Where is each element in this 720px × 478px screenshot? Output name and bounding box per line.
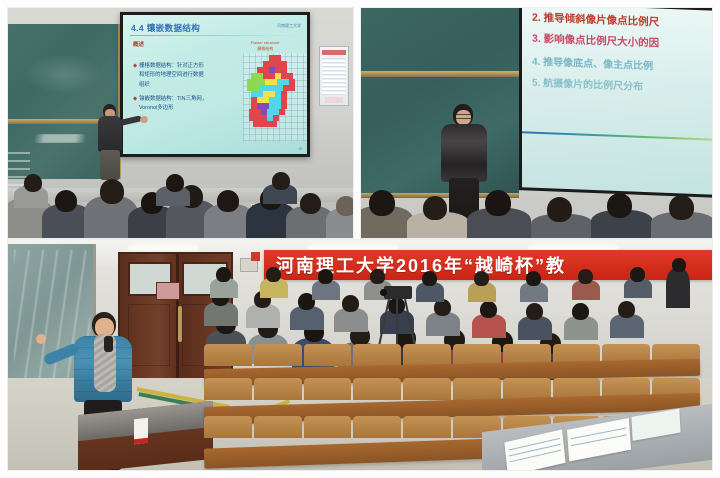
notice-body — [322, 58, 346, 95]
slide-line-3: 3. 影响像点比例尺大小的因 — [532, 31, 659, 51]
projection-screen-frame: 4.4 镶嵌数据结构 河南理工大学 概述 ◆栅格数据结构：针对正方形 和矩形的地… — [120, 12, 310, 157]
presenter-hand — [36, 334, 46, 344]
slide-color-divider — [522, 131, 712, 140]
paper-sheet — [504, 429, 565, 470]
seat — [403, 378, 451, 400]
chalk-smudge — [24, 54, 102, 94]
projection-screen-frame: 2. 推导倾斜像片像点比例尺 3. 影响像点比例尺大小的因 4. 推导像底点、像… — [519, 8, 712, 198]
tripod-leg-left — [377, 299, 390, 350]
projected-slide: 2. 推导倾斜像片像点比例尺 3. 影响像点比例尺大小的因 4. 推导像底点、像… — [522, 8, 712, 195]
seat — [304, 344, 352, 366]
seat — [403, 416, 451, 438]
raster-map-figure — [243, 53, 307, 141]
chalk-box — [134, 418, 148, 444]
bullet-marker-icon: ◆ — [133, 96, 137, 102]
seat — [353, 416, 401, 438]
seat — [204, 378, 252, 400]
audience-row — [361, 180, 712, 238]
bullet1-line2: 和矩形的地理空间进行数据 — [133, 71, 238, 80]
chalk-writing — [33, 134, 87, 143]
seat — [304, 378, 352, 400]
male-presenter — [94, 104, 126, 178]
photo-classroom-wide: 河南理工大学2016年“越崎杯”教 — [8, 240, 712, 470]
raster-label-cn: 栅格结构 — [251, 46, 279, 52]
photo2-scene: 2. 推导倾斜像片像点比例尺 3. 影响像点比例尺大小的因 4. 推导像底点、像… — [361, 8, 712, 238]
wall-notice-board — [319, 46, 349, 106]
photo-collage: 4.4 镶嵌数据结构 河南理工大学 概述 ◆栅格数据结构：针对正方形 和矩形的地… — [0, 0, 720, 478]
bullet1-line3: 组织 — [133, 81, 238, 90]
paper-sheet — [567, 418, 631, 462]
eyeglasses-icon — [456, 114, 471, 119]
seat — [353, 378, 401, 400]
seat — [353, 344, 401, 366]
bullet2-line1: 镶嵌数据结构：TIN三角网， — [139, 96, 207, 102]
seat — [204, 344, 252, 366]
raster-figure-labels: Raster structure 栅格结构 — [251, 40, 279, 52]
university-logo-text: 河南理工大学 — [277, 23, 301, 29]
photo-lecture-female: 2. 推导倾斜像片像点比例尺 3. 影响像点比例尺大小的因 4. 推导像底点、像… — [361, 8, 712, 238]
paper-sheet — [631, 409, 680, 441]
photo1-scene: 4.4 镶嵌数据结构 河南理工大学 概述 ◆栅格数据结构：针对正方形 和矩形的地… — [8, 8, 353, 238]
seat — [304, 416, 352, 438]
door-handle — [178, 306, 182, 342]
camera-lens-icon — [380, 289, 387, 296]
door-notice — [156, 282, 180, 300]
bullet2-line2: Voronoi多边形 — [133, 104, 238, 113]
camera-body — [384, 286, 412, 299]
slide-page-number: 10 — [298, 147, 302, 151]
slide-title: 4.4 镶嵌数据结构 — [131, 22, 200, 34]
photo-lecture-male: 4.4 镶嵌数据结构 河南理工大学 概述 ◆栅格数据结构：针对正方形 和矩形的地… — [8, 8, 353, 238]
notice-footer — [325, 97, 343, 103]
slide-bullet-2: ◆镶嵌数据结构：TIN三角网， Voronoi多边形 — [133, 95, 238, 114]
bullet1-line1: 栅格数据结构：针对正方形 — [139, 63, 204, 69]
seat — [254, 378, 302, 400]
presenter-leather-jacket — [441, 124, 487, 182]
slide-subhead: 概述 — [133, 40, 144, 48]
projected-slide: 4.4 镶嵌数据结构 河南理工大学 概述 ◆栅格数据结构：针对正方形 和矩形的地… — [123, 15, 307, 154]
video-camera-tripod — [380, 286, 414, 352]
bullet-marker-icon: ◆ — [133, 63, 137, 69]
audience-row — [8, 168, 353, 238]
slide-line-2: 2. 推导倾斜像片像点比例尺 — [532, 10, 659, 30]
slide-bullet-1: ◆栅格数据结构：针对正方形 和矩形的地理空间进行数据 组织 — [133, 62, 238, 90]
seat — [254, 344, 302, 366]
slide-line-4: 4. 推导像底点、像主点比例 — [532, 53, 653, 73]
photo3-scene: 河南理工大学2016年“越崎杯”教 — [8, 240, 712, 470]
seat — [453, 378, 501, 400]
seat — [254, 416, 302, 438]
seat — [204, 416, 252, 438]
slide-divider — [130, 35, 300, 36]
slide-line-5: 5. 航摄像片的比例尺分布 — [532, 74, 643, 93]
seat — [403, 344, 451, 366]
notice-title-bar — [322, 50, 346, 55]
microphone — [104, 336, 113, 352]
